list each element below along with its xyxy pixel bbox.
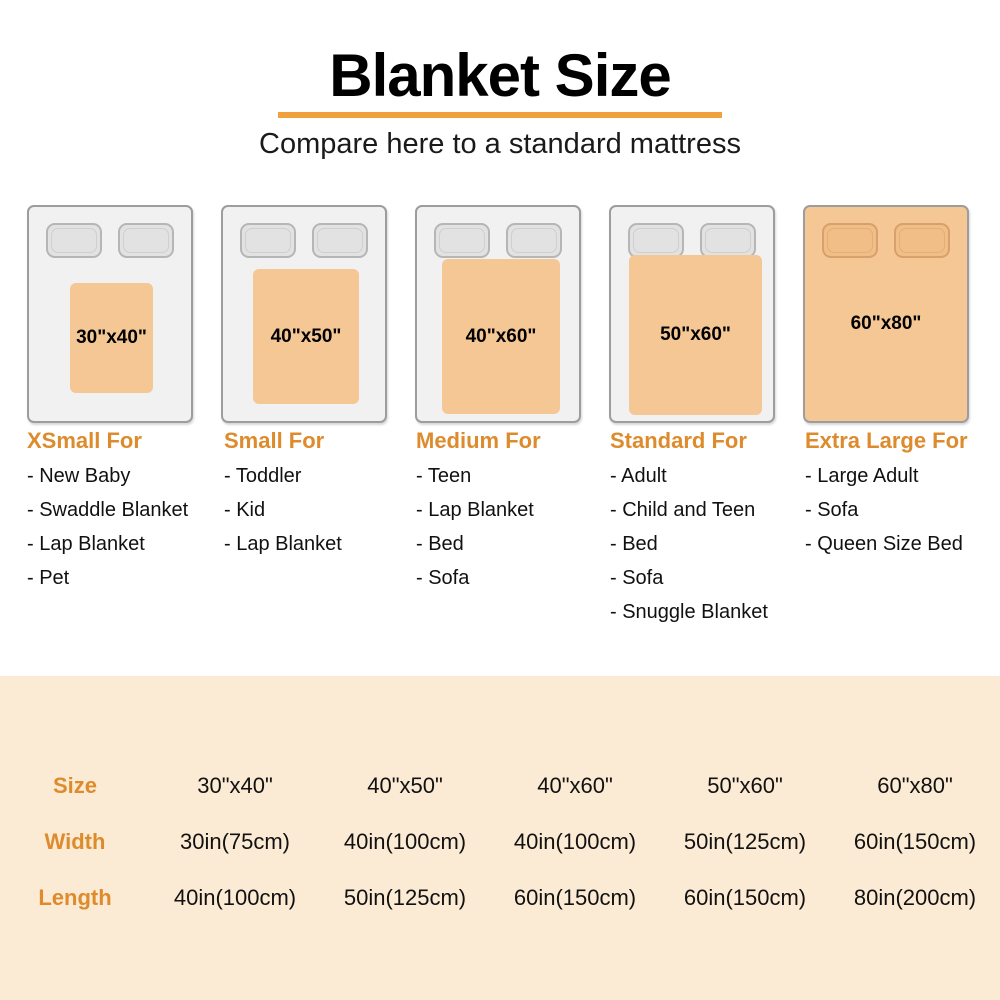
table-row: Size 30"x40" 40"x50" 40"x60" 50"x60" 60"… [0,758,1000,814]
blanket-size-label: 30"x40" [76,327,147,349]
category-item: - Swaddle Blanket [27,500,188,520]
category-item: - Kid [224,500,342,520]
category-title: Small For [224,430,342,452]
category-item: - Child and Teen [610,500,768,520]
table-cell: 60in(150cm) [490,870,660,926]
pillow-icon [822,223,878,258]
table-cell: 50"x60" [660,758,830,814]
row-header-length: Length [0,870,150,926]
mattress-shape: 60"x80" [803,205,969,423]
pillow-icon [46,223,102,258]
table-cell: 40in(100cm) [150,870,320,926]
bed-diagram-standard: 50"x60" [609,205,775,423]
category-column-small: Small For - Toddler - Kid - Lap Blanket [224,430,342,568]
bed-diagram-small: 40"x50" [221,205,387,423]
pillow-icon [434,223,490,258]
pillow-icon [506,223,562,258]
category-item: - Pet [27,568,188,588]
mattress-shape: 50"x60" [609,205,775,423]
category-item: - Queen Size Bed [805,534,968,554]
row-header-width: Width [0,814,150,870]
bed-diagram-medium: 40"x60" [415,205,581,423]
row-header-size: Size [0,758,150,814]
category-item: - Bed [610,534,768,554]
table-cell: 40in(100cm) [490,814,660,870]
blanket-overlay: 50"x60" [629,255,762,415]
table-cell: 30"x40" [150,758,320,814]
category-column-medium: Medium For - Teen - Lap Blanket - Bed - … [416,430,541,602]
category-item: - Sofa [805,500,968,520]
mattress-shape: 30"x40" [27,205,193,423]
category-column-xsmall: XSmall For - New Baby - Swaddle Blanket … [27,430,188,602]
table-cell: 40"x60" [490,758,660,814]
pillow-icon [700,223,756,258]
category-item: - Adult [610,466,768,486]
category-title: Standard For [610,430,768,452]
pillow-icon [118,223,174,258]
category-item: - New Baby [27,466,188,486]
table-cell: 60in(150cm) [660,870,830,926]
category-title: Extra Large For [805,430,968,452]
category-item: - Sofa [416,568,541,588]
category-item: - Teen [416,466,541,486]
category-item: - Large Adult [805,466,968,486]
header: Blanket Size Compare here to a standard … [0,0,1000,161]
table-cell: 60"x80" [830,758,1000,814]
title-underline-rule [278,112,722,118]
blanket-overlay: 40"x60" [442,259,560,414]
bed-diagram-extra-large: 60"x80" [803,205,969,423]
category-columns: XSmall For - New Baby - Swaddle Blanket … [0,430,1000,660]
spec-table: Size 30"x40" 40"x50" 40"x60" 50"x60" 60"… [0,758,1000,926]
table-cell: 50in(125cm) [320,870,490,926]
category-item: - Toddler [224,466,342,486]
table-row: Width 30in(75cm) 40in(100cm) 40in(100cm)… [0,814,1000,870]
table-row: Length 40in(100cm) 50in(125cm) 60in(150c… [0,870,1000,926]
page-title: Blanket Size [329,46,670,106]
table-cell: 80in(200cm) [830,870,1000,926]
page-subtitle: Compare here to a standard mattress [0,129,1000,161]
blanket-overlay: 40"x50" [253,269,359,404]
category-item: - Lap Blanket [416,500,541,520]
table-cell: 40in(100cm) [320,814,490,870]
category-column-extra-large: Extra Large For - Large Adult - Sofa - Q… [805,430,968,568]
pillow-icon [312,223,368,258]
category-column-standard: Standard For - Adult - Child and Teen - … [610,430,768,636]
bed-diagram-xsmall: 30"x40" [27,205,193,423]
mattress-shape: 40"x60" [415,205,581,423]
pillow-icon [240,223,296,258]
mattress-shape: 40"x50" [221,205,387,423]
category-item: - Snuggle Blanket [610,602,768,622]
category-item: - Lap Blanket [27,534,188,554]
table-cell: 60in(150cm) [830,814,1000,870]
blanket-size-label: 60"x80" [805,313,967,335]
blanket-size-label: 40"x60" [466,326,537,348]
blanket-overlay: 30"x40" [70,283,153,393]
category-item: - Bed [416,534,541,554]
spec-table-panel: Size 30"x40" 40"x50" 40"x60" 50"x60" 60"… [0,676,1000,1000]
blanket-size-label: 50"x60" [660,324,731,346]
table-cell: 30in(75cm) [150,814,320,870]
category-item: - Lap Blanket [224,534,342,554]
table-cell: 40"x50" [320,758,490,814]
pillow-icon [894,223,950,258]
table-cell: 50in(125cm) [660,814,830,870]
blanket-size-label: 40"x50" [271,326,342,348]
category-title: XSmall For [27,430,188,452]
category-item: - Sofa [610,568,768,588]
category-title: Medium For [416,430,541,452]
bed-diagram-row: 30"x40" 40"x50" 40"x60" 50"x60" [0,205,1000,423]
pillow-icon [628,223,684,258]
